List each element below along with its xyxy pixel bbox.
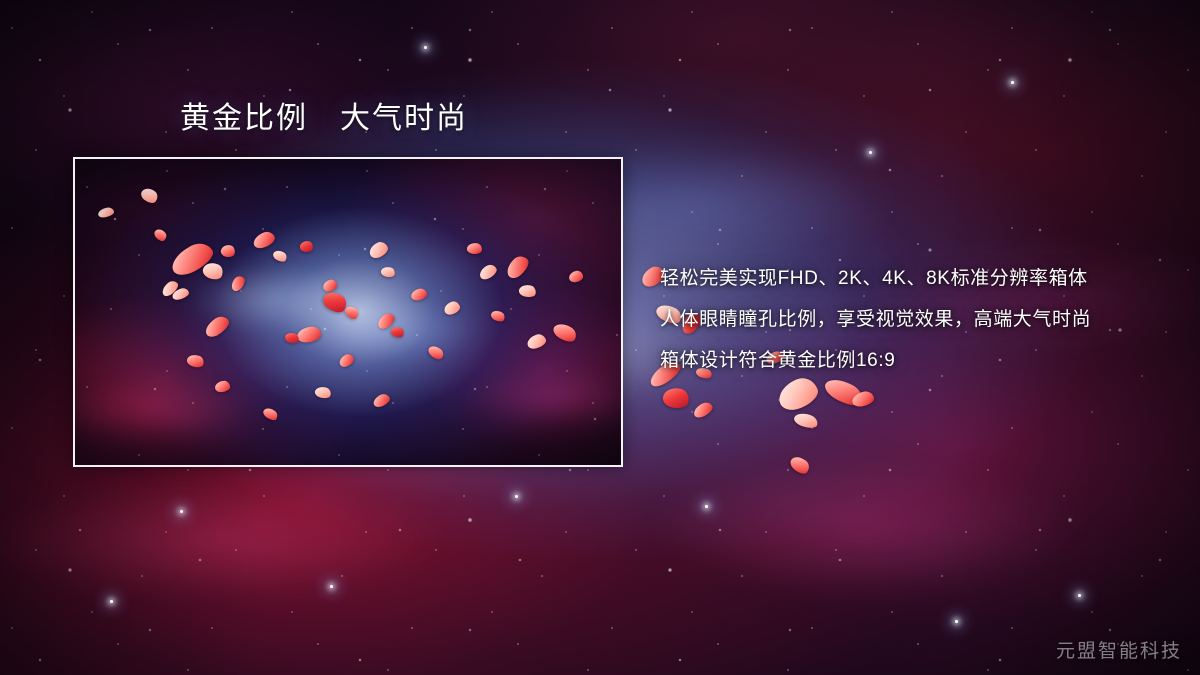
bright-star xyxy=(330,585,333,588)
bright-star xyxy=(955,620,958,623)
company-watermark: 元盟智能科技 xyxy=(1056,636,1182,663)
framed-image-vignette xyxy=(75,159,621,465)
body-line-3: 箱体设计符合黄金比例16:9 xyxy=(660,340,1180,381)
body-line-2: 人体眼睛瞳孔比例，享受视觉效果，高端大气时尚 xyxy=(660,299,1180,340)
framed-product-image[interactable] xyxy=(73,157,623,467)
bright-star xyxy=(424,46,427,49)
body-line-1: 轻松完美实现FHD、2K、4K、8K标准分辨率箱体 xyxy=(660,258,1180,299)
bright-star xyxy=(110,600,113,603)
slide-body-copy: 轻松完美实现FHD、2K、4K、8K标准分辨率箱体 人体眼睛瞳孔比例，享受视觉效… xyxy=(660,258,1180,381)
bright-star xyxy=(869,151,872,154)
bright-star xyxy=(1078,594,1081,597)
bright-star xyxy=(515,495,518,498)
bright-star xyxy=(1011,81,1014,84)
bright-star xyxy=(180,510,183,513)
bright-star xyxy=(705,505,708,508)
presentation-slide: 黄金比例 大气时尚 xyxy=(0,0,1200,675)
slide-headline: 黄金比例 大气时尚 xyxy=(180,101,468,137)
